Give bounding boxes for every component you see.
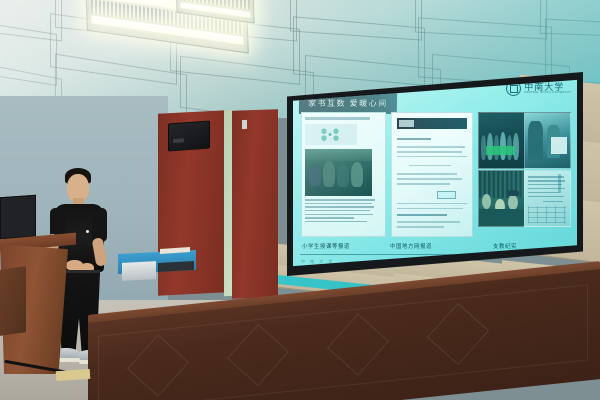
news-body-lines xyxy=(305,199,375,232)
lecture-room-photo: 中南大学 CENTRAL SOUTH UNIVERSITY 家书互数 爱暖心间 xyxy=(0,0,600,400)
photo-group-selfie xyxy=(478,170,525,227)
caption-middle: 中国地方网报道 xyxy=(390,242,432,250)
photo-handwritten-letter xyxy=(524,170,571,227)
wood-wall-panel-right xyxy=(232,109,278,299)
presenter-sleeve-right xyxy=(92,208,107,242)
web-navbar xyxy=(397,118,468,129)
printer-tray xyxy=(158,261,194,272)
university-name-en: CENTRAL SOUTH UNIVERSITY xyxy=(524,92,572,95)
photo-grid xyxy=(478,112,569,235)
green-banner xyxy=(486,146,515,155)
photo-group-audience xyxy=(478,112,525,169)
projection-screen-surface: 中南大学 CENTRAL SOUTH UNIVERSITY 家书互数 爱暖心间 xyxy=(293,78,577,268)
presentation-slide: 中南大学 CENTRAL SOUTH UNIVERSITY 家书互数 爱暖心间 xyxy=(293,78,577,268)
news-graphic-icon xyxy=(320,128,340,142)
caption-right: 支教纪实 xyxy=(493,242,517,250)
news-header-bar xyxy=(305,117,370,121)
caption-left: 小学生授课等报道 xyxy=(302,242,350,250)
web-article-heading xyxy=(397,138,431,140)
shirt-logo-icon xyxy=(86,230,89,233)
photo-classroom xyxy=(524,112,571,169)
web-article-button xyxy=(437,191,457,199)
news-photo xyxy=(305,149,371,196)
web-article-card xyxy=(391,112,473,237)
wall-speaker xyxy=(168,121,210,152)
computer-monitor xyxy=(0,195,36,240)
slide-title: 家书互数 爱暖心间 xyxy=(308,99,388,108)
bench-left xyxy=(0,266,26,336)
news-article-card xyxy=(301,112,386,237)
door-hinge xyxy=(242,120,247,129)
